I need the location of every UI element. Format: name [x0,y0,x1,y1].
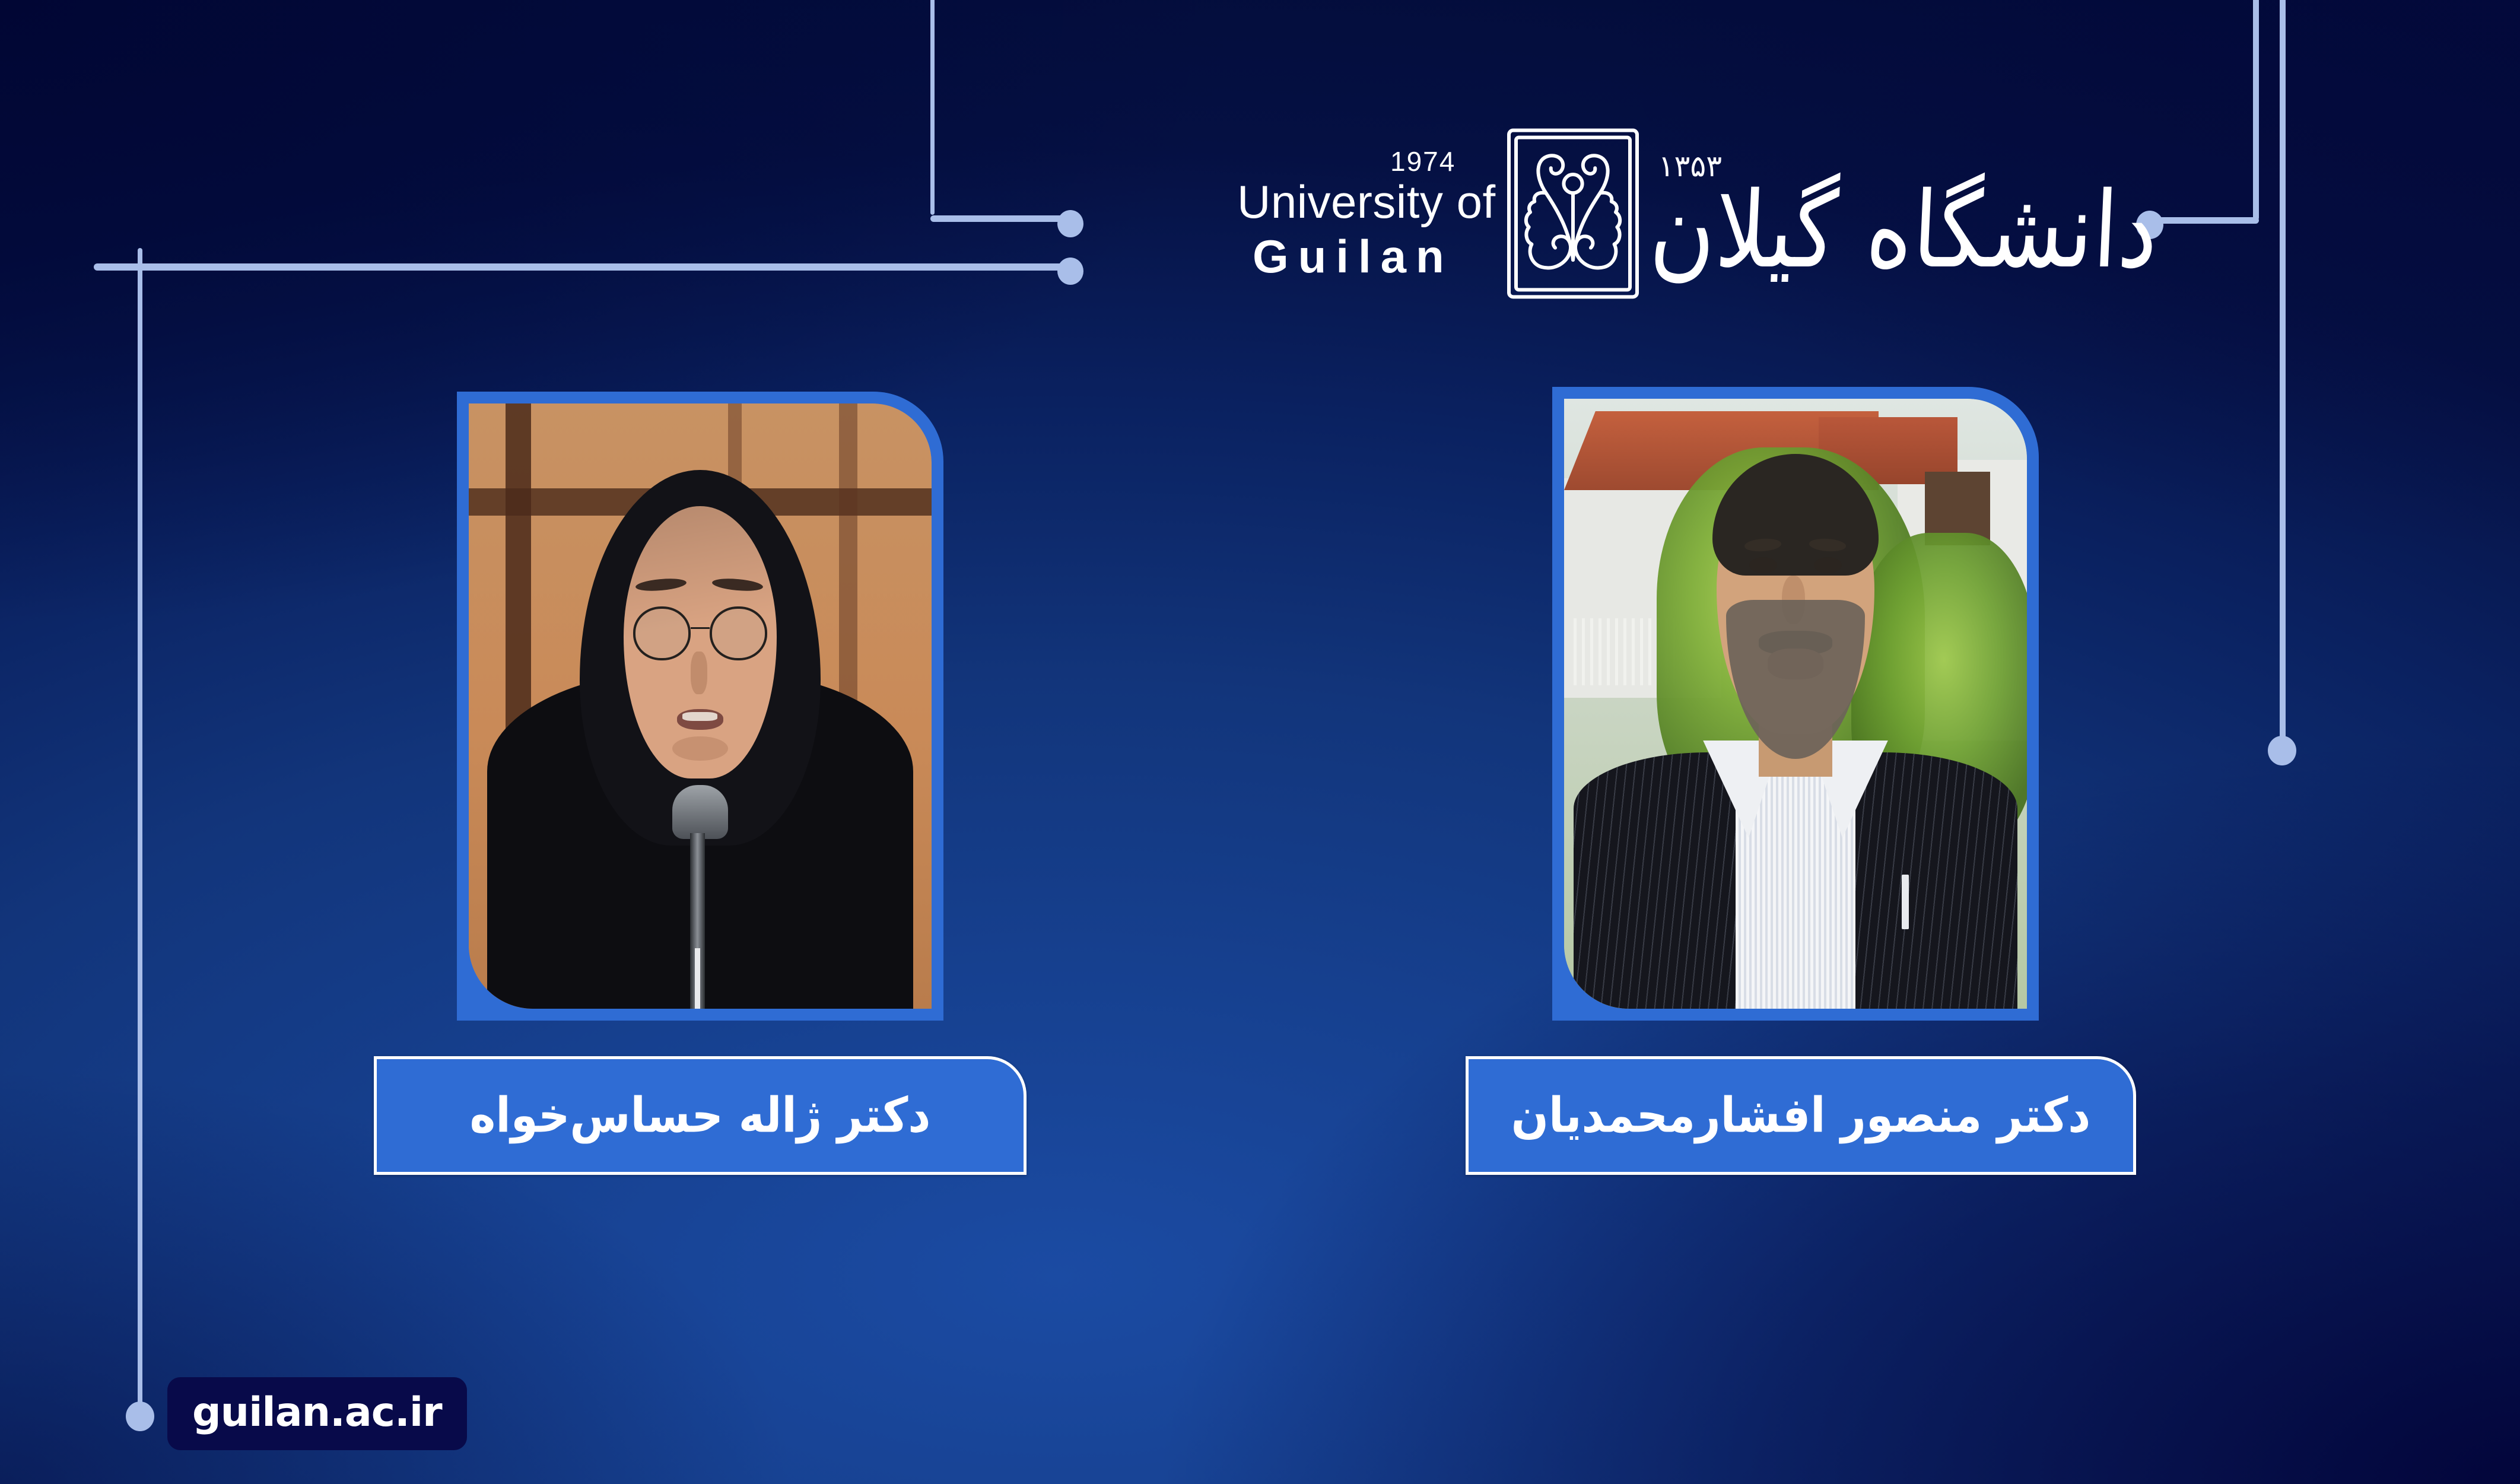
portrait-photo-right [1564,399,2027,1009]
portrait-frame-left [457,392,943,1021]
right-vertical-rule-short-icon [2253,0,2259,221]
logo-guilan-word: Guilan [1253,233,1454,279]
logo-university-word: University of [1237,179,1496,225]
nameplate-left-label: دکتر ژاله حساس‌خواه [470,1088,931,1144]
vertical-line-top-center-icon [930,0,935,215]
website-url-label: guilan.ac.ir [192,1389,442,1436]
portrait-image-left [469,403,932,1009]
portrait-photo-left [469,403,932,1009]
left-vertical-rule-icon [138,248,142,1418]
nameplate-left: دکتر ژاله حساس‌خواه [374,1056,1027,1175]
dot-left-rule-icon [126,1402,154,1431]
poster-canvas: 1974 University of Guilan ۱۳۵۳ دانشگاه گ… [0,0,2520,1484]
right-vertical-rule-long-icon [2280,0,2286,755]
dot-long-rule-icon [1057,258,1083,285]
nameplate-right: دکتر منصور افشارمحمدیان [1466,1056,2136,1175]
portrait-frame-right [1552,387,2039,1021]
nameplate-right-label: دکتر منصور افشارمحمدیان [1511,1088,2090,1144]
right-horizontal-stub-icon [2148,217,2259,224]
portrait-image-right [1564,399,2027,1009]
guilan-university-emblem-icon [1502,125,1644,303]
logo-english-text: 1974 University of Guilan [1237,148,1496,279]
university-logo: 1974 University of Guilan ۱۳۵۳ دانشگاه گ… [1237,104,2092,323]
person-card-right [1552,387,2039,1021]
logo-name-persian: دانشگاه گیلان [1647,176,2159,287]
horizontal-line-top-center-icon [930,215,1068,222]
logo-persian-text: ۱۳۵۳ دانشگاه گیلان [1650,149,2157,278]
dot-right-long-rule-icon [2268,736,2296,765]
logo-year-gregorian: 1974 [1390,148,1456,175]
person-card-left [457,392,943,1021]
website-url-badge[interactable]: guilan.ac.ir [167,1377,467,1450]
dot-top-center-icon [1057,210,1083,237]
long-horizontal-rule-icon [94,263,1072,271]
